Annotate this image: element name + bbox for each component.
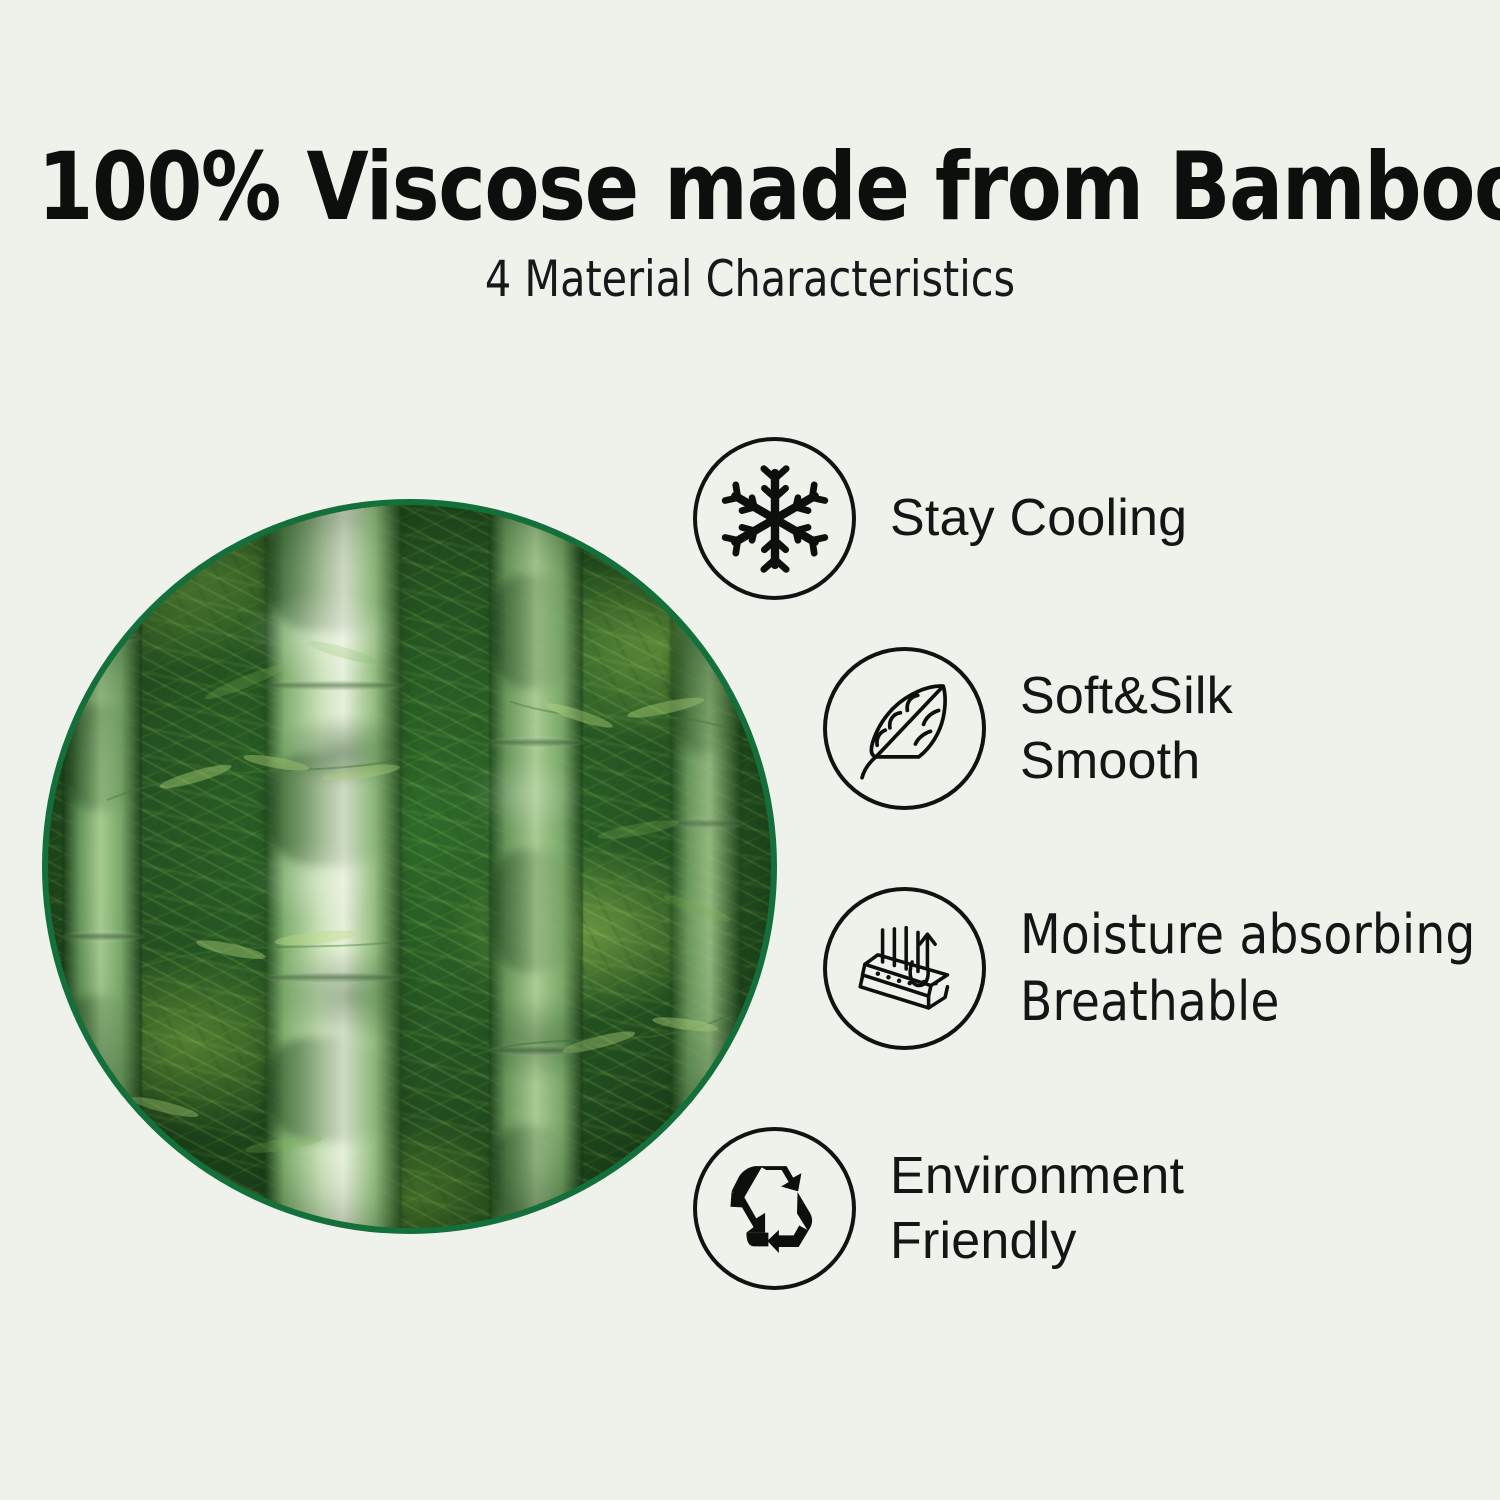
- bamboo-material-infographic: 100% Viscose made from Bamboo 4 Material…: [0, 0, 1500, 1500]
- snowflake-icon: [693, 437, 856, 600]
- recycle-icon: [693, 1127, 856, 1290]
- feature-label: Soft&Silk Smooth: [1020, 664, 1233, 793]
- dappled-light-overlay: [48, 505, 771, 1228]
- feature-environment-friendly: Environment Friendly: [693, 1127, 1184, 1290]
- feature-soft-silk-smooth: Soft&Silk Smooth: [823, 647, 1233, 810]
- bamboo-grove-photo: [42, 499, 777, 1234]
- page-subtitle: 4 Material Characteristics: [60, 252, 1440, 307]
- page-title: 100% Viscose made from Bamboo: [38, 141, 1463, 235]
- photo-inner: [48, 505, 771, 1228]
- feature-moisture-absorbing: Moisture absorbing Breathable: [823, 887, 1490, 1050]
- feature-label: Moisture absorbing Breathable: [1020, 902, 1476, 1036]
- feature-stay-cooling: Stay Cooling: [693, 437, 1187, 600]
- feather-icon: [823, 647, 986, 810]
- moisture-fabric-icon: [823, 887, 986, 1050]
- feature-label: Stay Cooling: [890, 486, 1187, 550]
- feature-label: Environment Friendly: [890, 1144, 1184, 1273]
